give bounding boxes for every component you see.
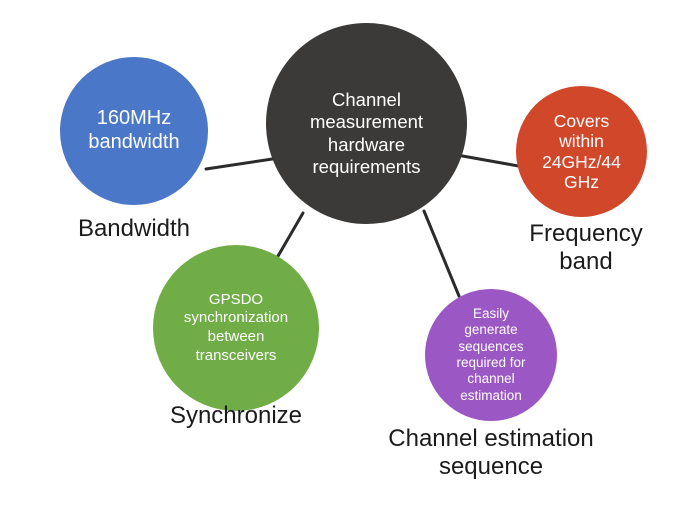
node-frequency-band-label: Covers within 24GHz/44 GHz [516,111,647,192]
node-center-hub[interactable]: Channel measurement hardware requirement… [266,23,467,224]
node-synchronize[interactable]: GPSDO synchronization between transceive… [153,245,319,411]
node-bandwidth-label: 160MHz bandwidth [60,107,208,154]
caption-synchronize: Synchronize [146,402,326,430]
connector-center-to-frequency [457,155,524,167]
connector-center-to-synchronize [274,213,303,263]
node-channel-estimation-sequence[interactable]: Easily generate sequences required for c… [425,289,557,421]
node-center-label: Channel measurement hardware requirement… [266,69,467,178]
caption-frequency-band: Frequency band [511,220,661,275]
node-channel-estimation-sequence-label: Easily generate sequences required for c… [425,306,557,405]
caption-bandwidth: Bandwidth [44,215,224,243]
node-bandwidth[interactable]: 160MHz bandwidth [60,57,208,205]
node-synchronize-label: GPSDO synchronization between transceive… [153,291,319,366]
connector-center-to-estimation [424,211,459,296]
diagram-canvas: Channel measurement hardware requirement… [0,0,678,523]
caption-channel-estimation-sequence: Channel estimation sequence [376,425,606,480]
node-frequency-band[interactable]: Covers within 24GHz/44 GHz [516,86,647,217]
